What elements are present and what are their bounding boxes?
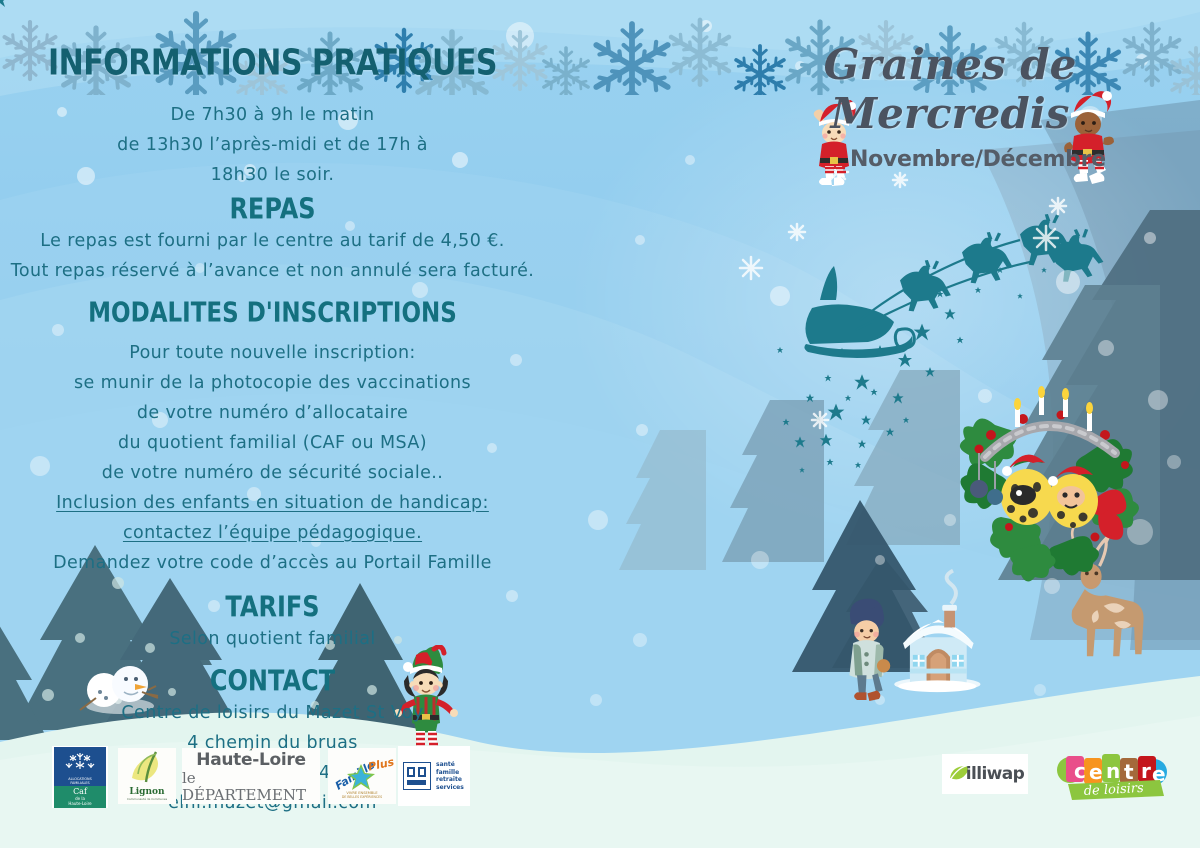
modalites-line-2: se munir de la photocopie des vaccinatio… bbox=[0, 368, 545, 398]
heading-contact: CONTACT bbox=[0, 663, 545, 699]
modalites-line-1: Pour toute nouvelle inscription: bbox=[0, 338, 545, 368]
portail-famille-line: Demandez votre code d’accès au Portail F… bbox=[0, 548, 545, 578]
repas-line-2: Tout repas réservé à l’avance et non ann… bbox=[0, 256, 545, 286]
svg-text:e: e bbox=[1089, 760, 1103, 784]
horaires-line-1: De 7h30 à 9h le matin bbox=[0, 100, 545, 130]
centre-de-loisirs-subtitle: de loisirs bbox=[1083, 781, 1144, 799]
caf-line-3: Caf bbox=[73, 787, 87, 796]
logo-illiwap: illiwap bbox=[942, 754, 1028, 794]
svg-text:r: r bbox=[1141, 759, 1151, 783]
lignon-leaf-icon bbox=[120, 750, 176, 790]
handicap-notice-line-1: Inclusion des enfants en situation de ha… bbox=[0, 488, 545, 518]
famille-plus-star-icon bbox=[346, 763, 376, 791]
haute-loire-line-1: Haute-Loire bbox=[196, 751, 305, 770]
haute-loire-line-2: le DÉPARTEMENT bbox=[182, 770, 320, 804]
lignon-line-1: Lignon bbox=[129, 787, 164, 797]
svg-text:t: t bbox=[1124, 760, 1134, 784]
svg-text:n: n bbox=[1106, 759, 1120, 783]
section-modalites: MODALITES D'INSCRIPTIONS Pour toute nouv… bbox=[0, 298, 545, 578]
modalites-line-3: de votre numéro d’allocataire bbox=[0, 398, 545, 428]
heading-tarifs: TARIFS bbox=[0, 589, 545, 625]
tarifs-line-1: Selon quotient familial bbox=[0, 624, 545, 654]
section-tarifs: TARIFS Selon quotient familial bbox=[0, 592, 545, 654]
heading-modalites: MODALITES D'INSCRIPTIONS bbox=[0, 295, 545, 331]
partner-logos: ALLOCATIONS FAMILIALES Caf de la Haute-L… bbox=[0, 740, 1200, 848]
modalites-line-5: de votre numéro de sécurité sociale.. bbox=[0, 458, 545, 488]
caf-line-2: FAMILIALES bbox=[70, 781, 89, 785]
msa-line-2: famille bbox=[436, 769, 464, 777]
lignon-line-2: Communauté de Communes bbox=[127, 797, 167, 801]
logo-caf: ALLOCATIONS FAMILIALES Caf de la Haute-L… bbox=[52, 746, 108, 808]
logo-lignon: Lignon Communauté de Communes bbox=[118, 748, 176, 804]
contact-address-line-1: Centre de loisirs du Mazet St Voy bbox=[0, 698, 545, 728]
logo-famille-plus: Famille Plus VIVRE ENSEMBLE DE BELLES EX… bbox=[328, 748, 396, 804]
section-horaires: De 7h30 à 9h le matin de 13h30 l’après-m… bbox=[0, 100, 545, 190]
page-title: INFORMATIONS PRATIQUES bbox=[0, 44, 545, 84]
logo-msa: santé famille retraite services bbox=[398, 746, 470, 806]
horaires-line-3: 18h30 le soir. bbox=[0, 160, 545, 190]
caf-snowflake-icon bbox=[63, 751, 97, 773]
centre-de-loisirs-blocks-icon: c e n t r e de loisirs bbox=[1056, 748, 1168, 806]
msa-line-1: santé bbox=[436, 761, 464, 769]
informations-pratiques-panel: INFORMATIONS PRATIQUES De 7h30 à 9h le m… bbox=[0, 44, 545, 818]
month-label: Novembre/Décembre bbox=[850, 147, 1100, 172]
logo-haute-loire: Haute-Loire le DÉPARTEMENT bbox=[182, 748, 320, 804]
caf-line-5: Haute-Loire bbox=[68, 801, 91, 806]
graines-de-mercredis-title: Graines de Mercredis bbox=[715, 40, 1185, 138]
logo-centre-de-loisirs: c e n t r e de loisirs bbox=[1056, 748, 1168, 806]
modalites-line-4: du quotient familial (CAF ou MSA) bbox=[0, 428, 545, 458]
horaires-line-2: de 13h30 l’après-midi et de 17h à bbox=[0, 130, 545, 160]
section-repas: REPAS Le repas est fourni par le centre … bbox=[0, 194, 545, 286]
msa-mark-icon bbox=[403, 762, 431, 790]
msa-line-3: retraite bbox=[436, 776, 464, 784]
heading-repas: REPAS bbox=[0, 191, 545, 227]
famille-plus-line-4: DE BELLES EXPÉRIENCES bbox=[342, 795, 382, 799]
illiwap-line-1: illiwap bbox=[966, 764, 1024, 784]
msa-line-4: services bbox=[436, 784, 464, 792]
handicap-notice-line-2: contactez l’équipe pédagogique. bbox=[0, 518, 545, 548]
repas-line-1: Le repas est fourni par le centre au tar… bbox=[0, 226, 545, 256]
svg-text:c: c bbox=[1074, 759, 1086, 783]
poster-canvas: INFORMATIONS PRATIQUES De 7h30 à 9h le m… bbox=[0, 0, 1200, 848]
